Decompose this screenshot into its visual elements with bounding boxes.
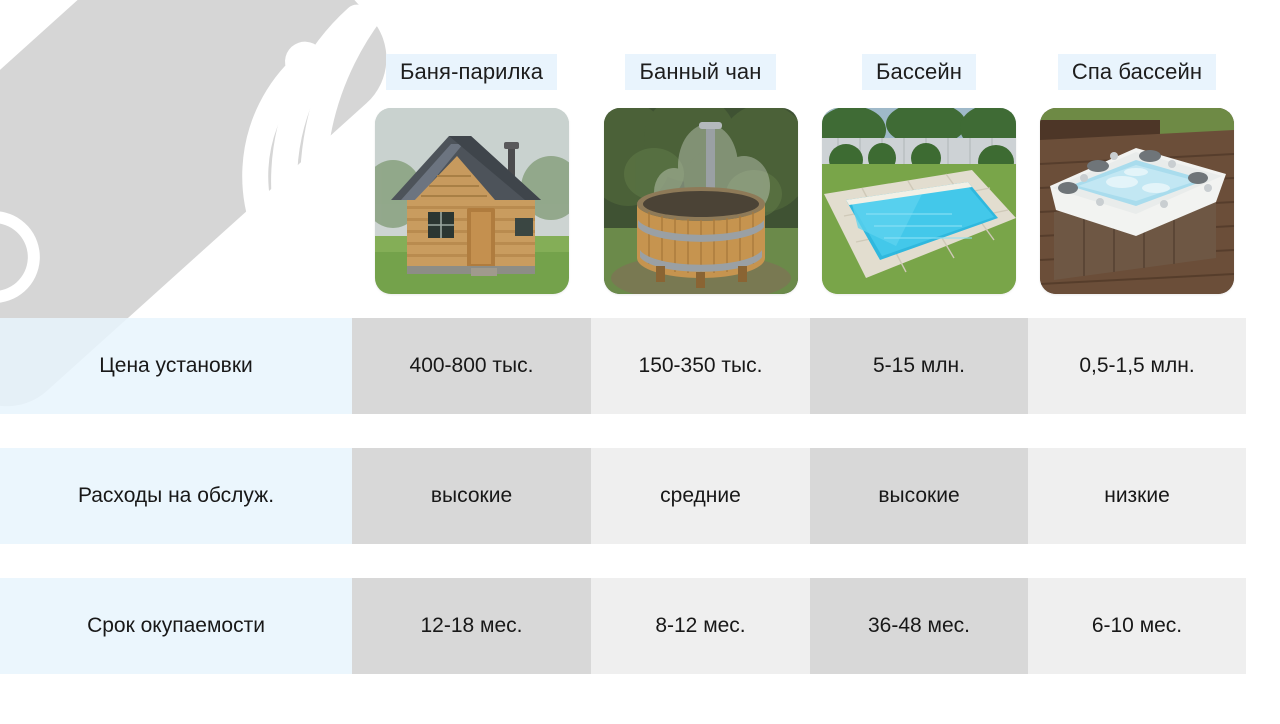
table-cell: 6-10 мес. bbox=[1028, 578, 1246, 674]
spa-jacuzzi-photo-icon bbox=[1040, 108, 1234, 294]
table-cell: низкие bbox=[1028, 448, 1246, 544]
column-headers: Баня-парилка Банный чан Бассейн Спа басс… bbox=[0, 54, 1280, 90]
comparison-table-slide: Баня-парилка Банный чан Бассейн Спа басс… bbox=[0, 0, 1280, 724]
column-header-basseyn: Бассейн bbox=[810, 54, 1028, 90]
table-cell: 400-800 тыс. bbox=[352, 318, 591, 414]
wooden-hot-tub-photo-icon bbox=[604, 108, 798, 294]
row-label: Цена установки bbox=[0, 318, 352, 414]
column-header-banya: Баня-парилка bbox=[352, 54, 591, 90]
log-cabin-sauna-photo-icon bbox=[375, 108, 569, 294]
row-padding bbox=[1246, 578, 1280, 674]
table-cell: высокие bbox=[810, 448, 1028, 544]
column-header-spa: Спа бассейн bbox=[1028, 54, 1246, 90]
row-padding bbox=[1246, 448, 1280, 544]
table-row: Цена установки 400-800 тыс. 150-350 тыс.… bbox=[0, 318, 1280, 414]
row-label: Расходы на обслуж. bbox=[0, 448, 352, 544]
column-images bbox=[0, 108, 1280, 294]
table-cell: 5-15 млн. bbox=[810, 318, 1028, 414]
table-row: Срок окупаемости 12-18 мес. 8-12 мес. 36… bbox=[0, 578, 1280, 674]
table-cell: 8-12 мес. bbox=[591, 578, 810, 674]
table-cell: средние bbox=[591, 448, 810, 544]
table-cell: 36-48 мес. bbox=[810, 578, 1028, 674]
header-spacer bbox=[0, 54, 352, 90]
column-header-chan: Банный чан bbox=[591, 54, 810, 90]
table-cell: 150-350 тыс. bbox=[591, 318, 810, 414]
column-image-basseyn bbox=[810, 108, 1028, 294]
column-header-label: Баня-парилка bbox=[386, 54, 557, 90]
column-header-label: Банный чан bbox=[625, 54, 775, 90]
table-cell: высокие bbox=[352, 448, 591, 544]
table-cell: 12-18 мес. bbox=[352, 578, 591, 674]
outdoor-swimming-pool-photo-icon bbox=[822, 108, 1016, 294]
column-header-label: Спа бассейн bbox=[1058, 54, 1216, 90]
column-image-banya bbox=[352, 108, 591, 294]
column-header-label: Бассейн bbox=[862, 54, 976, 90]
column-image-chan bbox=[591, 108, 810, 294]
row-padding bbox=[1246, 318, 1280, 414]
table-cell: 0,5-1,5 млн. bbox=[1028, 318, 1246, 414]
image-spacer bbox=[0, 108, 352, 294]
column-image-spa bbox=[1028, 108, 1246, 294]
row-label: Срок окупаемости bbox=[0, 578, 352, 674]
table-row: Расходы на обслуж. высокие средние высок… bbox=[0, 448, 1280, 544]
